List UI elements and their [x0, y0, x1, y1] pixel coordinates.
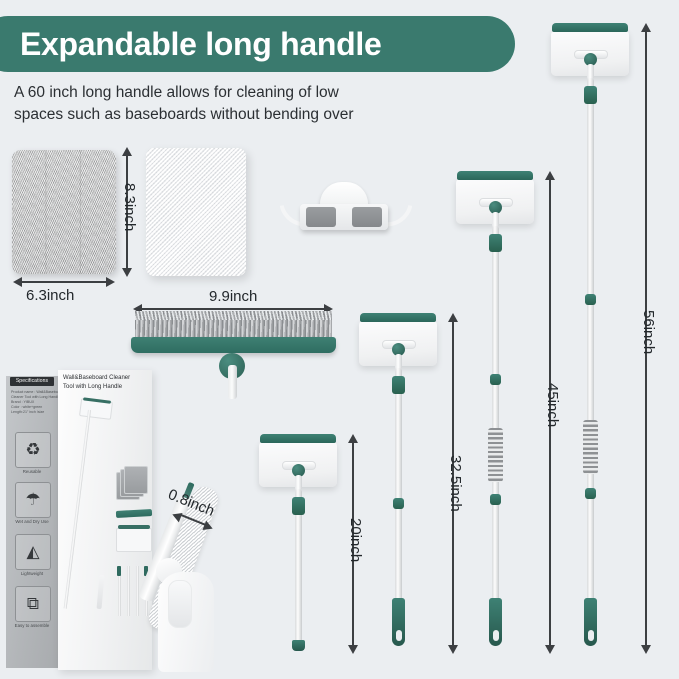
feature-icon-box-0: ♻ [15, 432, 51, 468]
package-art-brush [116, 509, 152, 518]
scrub-brush-head [131, 311, 336, 357]
page-title: Expandable long handle [20, 26, 381, 63]
package-box-front-panel: Wall&Baseboard Cleaner Tool with Long Ha… [58, 370, 152, 670]
mop-grip-56 [584, 598, 597, 646]
brush-base [131, 337, 336, 353]
brush-width-arrow-line [142, 308, 326, 310]
arrow-top-56inch [641, 23, 651, 32]
header-banner: Expandable long handle [0, 16, 515, 72]
feature-icon-box-1: ☂ [15, 482, 51, 518]
package-box-side-panel: Specifications Product name : Wall&Baseb… [6, 376, 58, 668]
feature-label-2: Lightweight [8, 571, 56, 576]
infographic-canvas: Expandable long handle A 60 inch long ha… [0, 0, 679, 679]
pad-height-arrow-bottom [122, 268, 132, 277]
mop-collar-mid-45 [490, 374, 501, 385]
mop-ribbed-grip-56 [583, 420, 598, 474]
package-front-title-line-2: Tool with Long Handle [63, 383, 149, 392]
pad-width-arrow-right [106, 277, 115, 287]
mop-head-strip-32 [360, 313, 436, 322]
package-art-pads [116, 466, 146, 500]
feature-label-3: Easy to assemble [8, 623, 56, 628]
hook-grip-left [306, 207, 336, 227]
lightweight-icon: ◭ [16, 535, 50, 569]
mop-head-strip-56 [552, 23, 628, 32]
dimension-pad-width: 6.3inch [26, 287, 74, 304]
package-art-mop-head-2 [116, 528, 152, 552]
mop-20inch [259, 441, 339, 671]
mop-head-strip-45 [457, 171, 533, 180]
brush-bristles [135, 311, 332, 339]
spec-line-4: Length:21" inch /size [11, 410, 55, 415]
pad-width-arrow-left [13, 277, 22, 287]
specifications-tab: Specifications [10, 377, 54, 386]
mop-pole-32 [395, 368, 402, 610]
specifications-tab-label: Specifications [10, 377, 54, 386]
mop-pole-56 [587, 78, 594, 612]
gray-scrub-pad [12, 150, 116, 274]
mop-grip-32 [392, 598, 405, 646]
feature-label-0: Reusable [8, 469, 56, 474]
subtitle-line-1: A 60 inch long handle allows for cleanin… [14, 82, 484, 104]
brush-stem [228, 365, 237, 399]
feature-icon-box-2: ◭ [15, 534, 51, 570]
mop-32inch [359, 320, 439, 670]
package-box: Specifications Product name : Wall&Baseb… [6, 370, 152, 670]
mop-collar-32 [392, 376, 405, 394]
specifications-text: Product name : Wall&Baseboard Cleaner To… [11, 390, 55, 415]
pad-height-arrow-top [122, 147, 132, 156]
package-art-grip [97, 575, 105, 609]
mop-pole-45 [492, 226, 499, 612]
dimension-pad-height: 8.3inch [121, 183, 138, 231]
mop-45inch [456, 178, 536, 670]
recycle-icon: ♻ [16, 433, 50, 467]
feature-label-1: Wet and Dry Use [8, 519, 56, 524]
feature-icon-box-3: ⧉ [15, 586, 51, 622]
package-front-title: Wall&Baseboard Cleaner Tool with Long Ha… [63, 374, 149, 392]
assemble-icon: ⧉ [16, 587, 50, 621]
header-subtitle: A 60 inch long handle allows for cleanin… [14, 82, 484, 126]
subtitle-line-2: spaces such as baseboards without bendin… [14, 104, 484, 126]
mop-ribbed-grip-45 [488, 428, 503, 482]
wall-hook-mount [282, 182, 406, 234]
mop-collar-20 [292, 497, 305, 515]
package-front-title-line-1: Wall&Baseboard Cleaner [63, 374, 149, 383]
wet-dry-icon: ☂ [16, 483, 50, 517]
hand-thumb [168, 580, 192, 628]
arrow-bottom-20inch [348, 645, 358, 654]
dimension-pole-56inch: 56inch [640, 310, 657, 354]
arrow-top-20inch [348, 434, 358, 443]
arrow-bottom-56inch [641, 645, 651, 654]
mop-collar-56 [584, 86, 597, 104]
dimension-brush-width: 9.9inch [209, 288, 257, 305]
mop-grip-45 [489, 598, 502, 646]
mop-head-strip-20 [260, 434, 336, 443]
hook-grip-right [352, 207, 382, 227]
mop-collar-mid-32 [393, 498, 404, 509]
mop-collar-low-45 [490, 494, 501, 505]
mop-endcap-20 [292, 640, 305, 651]
mop-collar-45 [489, 234, 502, 252]
pad-width-arrow-line [22, 281, 108, 283]
mop-collar-mid-56 [585, 294, 596, 305]
mop-56inch [551, 30, 631, 670]
white-microfiber-pad [146, 148, 246, 276]
package-art-mop-head [79, 398, 113, 420]
mop-collar-low-56 [585, 488, 596, 499]
package-art-pole [64, 410, 91, 609]
